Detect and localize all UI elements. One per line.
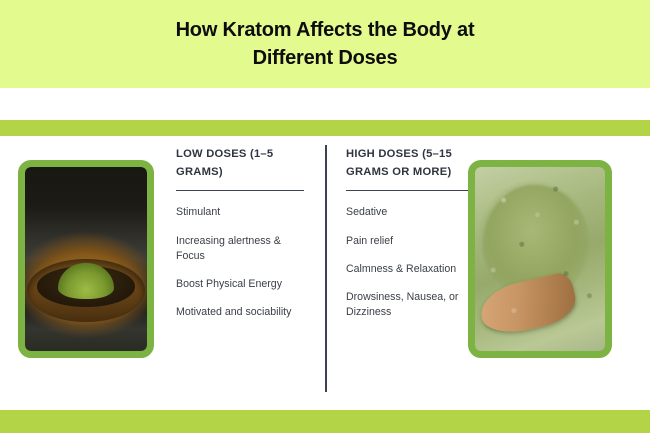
list-item: Motivated and sociability	[176, 305, 304, 320]
left-image-frame	[18, 160, 154, 358]
sensor-dot-right-icon	[545, 163, 547, 165]
list-item: Sedative	[346, 205, 468, 220]
sensor-dot-right-icon	[91, 163, 93, 165]
accent-bar-top	[0, 120, 650, 136]
list-item: Pain relief	[346, 234, 468, 249]
low-doses-column: LOW DOSES (1–5 GRAMS) Stimulant Increasi…	[176, 145, 322, 393]
list-item: Increasing alertness & Focus	[176, 234, 304, 265]
list-item: Drowsiness, Nausea, or Dizziness	[346, 290, 468, 321]
title-banner: How Kratom Affects the Body at Different…	[0, 0, 650, 88]
high-doses-header-rule	[346, 190, 468, 191]
high-doses-effects-list: Sedative Pain relief Calmness & Relaxati…	[346, 205, 468, 320]
page-title-line-1: How Kratom Affects the Body at	[176, 19, 475, 41]
kratom-powder-in-wooden-bowl-photo	[25, 167, 147, 351]
camera-sensor-icon	[79, 162, 93, 166]
bowl-photo-backdrop	[25, 167, 147, 351]
powder-grain-texture	[475, 167, 605, 351]
camera-lens-icon	[84, 162, 88, 166]
camera-lens-icon	[538, 162, 542, 166]
low-doses-effects-list: Stimulant Increasing alertness & Focus B…	[176, 205, 304, 320]
page-title-line-2: Different Doses	[253, 47, 398, 69]
accent-bar-bottom	[0, 410, 650, 433]
sensor-dot-left-icon	[79, 163, 81, 165]
low-doses-header-rule	[176, 190, 304, 191]
powder-photo-backdrop	[475, 167, 605, 351]
low-doses-header: LOW DOSES (1–5 GRAMS)	[176, 145, 304, 190]
sensor-dot-left-icon	[533, 163, 535, 165]
right-image-frame	[468, 160, 612, 358]
camera-sensor-icon	[533, 162, 547, 166]
list-item: Stimulant	[176, 205, 304, 220]
kratom-powder-with-spoon-photo	[475, 167, 605, 351]
list-item: Calmness & Relaxation	[346, 262, 468, 277]
dose-comparison: LOW DOSES (1–5 GRAMS) Stimulant Increasi…	[176, 145, 468, 393]
list-item: Boost Physical Energy	[176, 277, 304, 292]
high-doses-header: HIGH DOSES (5–15 GRAMS OR MORE)	[346, 145, 468, 190]
high-doses-column: HIGH DOSES (5–15 GRAMS OR MORE) Sedative…	[322, 145, 468, 393]
page-title: How Kratom Affects the Body at Different…	[176, 16, 475, 73]
